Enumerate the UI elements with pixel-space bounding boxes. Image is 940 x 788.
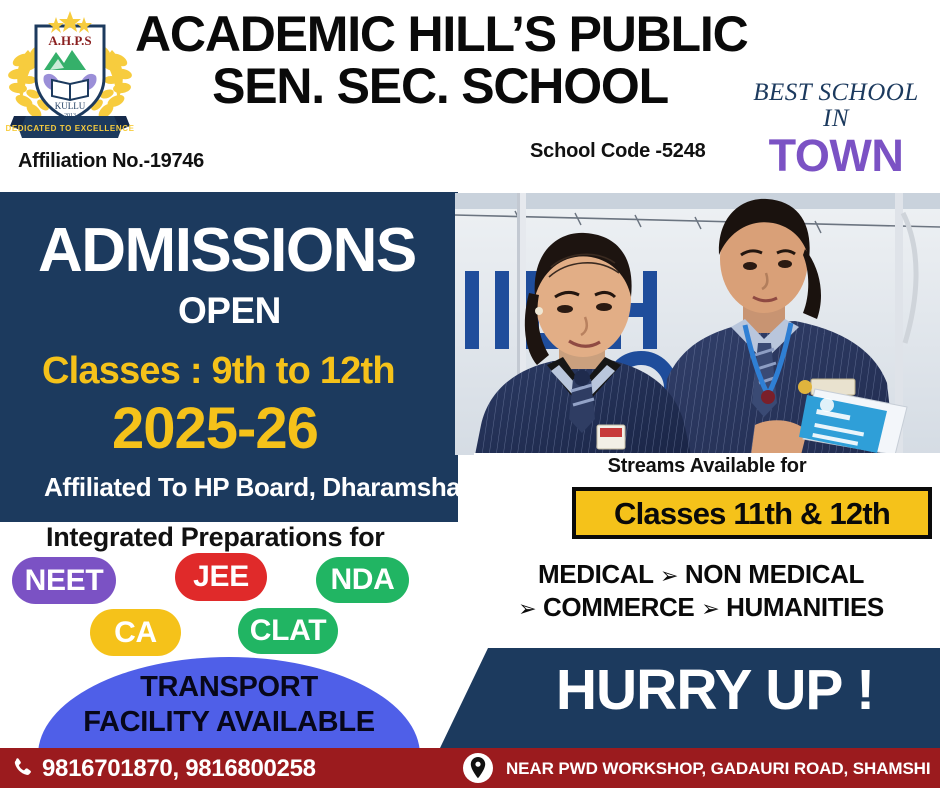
stream-arrow-icon: ➢ bbox=[660, 563, 678, 588]
transport-line-2: FACILITY AVAILABLE bbox=[38, 705, 420, 740]
students-photo bbox=[455, 193, 940, 455]
admissions-panel: ADMISSIONS OPEN Classes : 9th to 12th 20… bbox=[0, 192, 458, 522]
contact-address: NEAR PWD WORKSHOP, GADAURI ROAD, SHAMSHI bbox=[506, 760, 930, 777]
school-name-line-2: SEN. SEC. SCHOOL bbox=[135, 60, 745, 112]
stream-arrow-icon: ➢ bbox=[701, 596, 719, 621]
school-crest-icon: A.H.P.S KULLU 2013 DEDICATED TO EXCELLEN… bbox=[6, 4, 134, 144]
exam-badge-ca[interactable]: CA bbox=[90, 609, 181, 656]
students-photo-illustration bbox=[455, 193, 940, 455]
exam-badge-clat-label: CLAT bbox=[250, 616, 327, 646]
tagline-line-1: BEST SCHOOL bbox=[738, 80, 934, 106]
stream-medical: MEDICAL bbox=[538, 559, 653, 589]
affiliated-board: Affiliated To HP Board, Dharamshala bbox=[44, 474, 481, 500]
affiliation-number: Affiliation No.-19746 bbox=[18, 150, 204, 173]
streams-classes-box: Classes 11th & 12th bbox=[572, 487, 932, 539]
transport-line-1: TRANSPORT bbox=[38, 670, 420, 705]
admissions-headline: ADMISSIONS bbox=[38, 220, 416, 282]
streams-row-1: MEDICAL ➢ NON MEDICAL bbox=[468, 558, 934, 591]
exam-badge-neet-label: NEET bbox=[25, 566, 104, 596]
school-logo: A.H.P.S KULLU 2013 DEDICATED TO EXCELLEN… bbox=[6, 4, 134, 144]
hurry-up-text: HURRY UP ! bbox=[490, 662, 940, 719]
exam-badge-ca-label: CA bbox=[114, 618, 157, 648]
stream-non-medical: NON MEDICAL bbox=[685, 559, 864, 589]
admission-poster: A.H.P.S KULLU 2013 DEDICATED TO EXCELLEN… bbox=[0, 0, 940, 788]
poster-header: A.H.P.S KULLU 2013 DEDICATED TO EXCELLEN… bbox=[0, 0, 940, 192]
transport-facility-text: TRANSPORT FACILITY AVAILABLE bbox=[38, 670, 420, 741]
streams-classes-box-label: Classes 11th & 12th bbox=[614, 498, 890, 529]
school-name: ACADEMIC HILL’S PUBLIC SEN. SEC. SCHOOL bbox=[135, 8, 745, 112]
stream-arrow-icon: ➢ bbox=[518, 596, 536, 621]
streams-available-label: Streams Available for bbox=[474, 455, 940, 478]
tagline-town: TOWN bbox=[738, 134, 934, 177]
school-code: School Code -5248 bbox=[530, 140, 706, 163]
streams-list: MEDICAL ➢ NON MEDICAL ➢ COMMERCE ➢ HUMAN… bbox=[468, 558, 934, 625]
exam-badge-jee[interactable]: JEE bbox=[175, 553, 267, 601]
exam-badge-neet[interactable]: NEET bbox=[12, 557, 116, 604]
svg-text:DEDICATED TO EXCELLENCE: DEDICATED TO EXCELLENCE bbox=[6, 124, 134, 133]
phone-icon bbox=[10, 756, 34, 780]
stream-commerce: COMMERCE bbox=[543, 592, 694, 622]
session-year: 2025-26 bbox=[112, 400, 318, 458]
streams-row-2: ➢ COMMERCE ➢ HUMANITIES bbox=[468, 591, 934, 624]
location-pin-icon bbox=[462, 752, 494, 784]
svg-text:KULLU: KULLU bbox=[55, 101, 86, 111]
tagline-line-2: IN bbox=[738, 106, 934, 132]
exam-badge-nda[interactable]: NDA bbox=[316, 557, 409, 603]
exam-badge-jee-label: JEE bbox=[193, 562, 249, 592]
admissions-subhead: OPEN bbox=[178, 292, 281, 329]
contact-phone-numbers[interactable]: 9816701870, 9816800258 bbox=[42, 757, 316, 781]
integrated-prep-label: Integrated Preparations for bbox=[46, 522, 384, 553]
school-name-line-1: ACADEMIC HILL’S PUBLIC bbox=[135, 8, 745, 60]
exam-badge-nda-label: NDA bbox=[330, 565, 394, 595]
tagline-block: BEST SCHOOL IN TOWN bbox=[738, 80, 934, 177]
classes-range: Classes : 9th to 12th bbox=[42, 352, 395, 390]
stream-humanities: HUMANITIES bbox=[726, 592, 884, 622]
exam-badge-clat[interactable]: CLAT bbox=[238, 608, 338, 654]
svg-text:A.H.P.S: A.H.P.S bbox=[48, 33, 91, 48]
